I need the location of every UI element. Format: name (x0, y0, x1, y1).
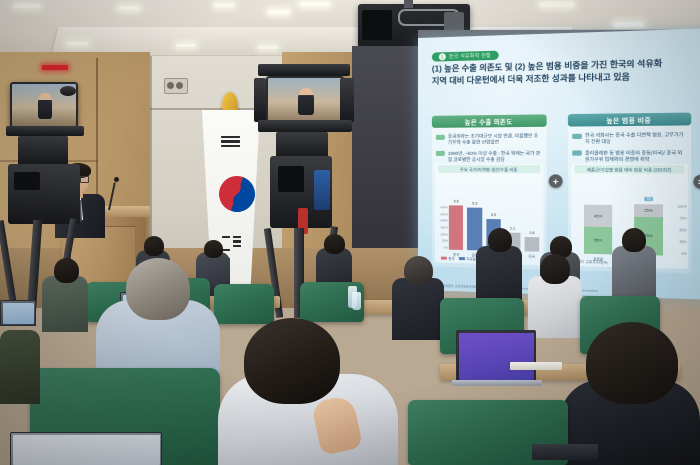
segment-value-label: 55% (594, 238, 602, 242)
y-tick: 25% (672, 240, 687, 245)
bar: 5.3 일본 (467, 208, 482, 251)
laptop-base (452, 380, 542, 386)
viewfinder-subject-speaker (38, 93, 52, 119)
segment-value-label: 25% (644, 209, 652, 213)
laptop (0, 300, 36, 326)
bar-segment-highvalue: 25% (634, 204, 663, 217)
projector-lens (362, 10, 392, 40)
audience-head (488, 228, 512, 252)
bullet-marker-icon (572, 151, 582, 156)
ceiling-light (66, 42, 88, 45)
bar: 5.6 한국 (449, 205, 464, 250)
legend-item: 한국 (441, 256, 455, 261)
trigram-geon-icon (221, 136, 240, 147)
ceiling-light (300, 2, 330, 6)
audience-member (0, 330, 40, 404)
y-tick: 100% (672, 205, 687, 209)
trigram-gon-icon (233, 236, 241, 247)
audience-member (42, 276, 88, 332)
segment-value-label: 45% (594, 214, 602, 218)
connector-plus-icon: + (549, 174, 563, 188)
panel-header: 높은 범용 비중 (568, 113, 691, 127)
audience-head (586, 322, 678, 404)
camera-eyepiece (60, 86, 76, 96)
panel-header: 높은 수출 의존도 (432, 114, 547, 127)
y-tick: 150% (436, 225, 448, 229)
bar: 1.6 미국 (524, 237, 539, 252)
audience-head (54, 258, 79, 283)
camera-side-bracket (254, 78, 266, 122)
y-tick: 75% (672, 216, 687, 220)
water-bottle (352, 292, 361, 310)
bar-segment-highvalue: 45% (584, 205, 612, 227)
panel-bullet: 폴리올레핀 등 범용 비중의 중동(미국)/ 중국 외 원가우위 업체와의 경쟁… (572, 150, 686, 164)
bullet-text: 중국의라는 초기대규모 시장 만큼, 미흡했던 초기무역 수출 물량 산업발전 (448, 133, 543, 147)
camera-side-bracket (340, 78, 354, 122)
legend-item: 고부가가치(%) (578, 259, 608, 265)
ceiling-light (176, 44, 196, 47)
audience-head (324, 234, 345, 254)
y-tick: 0% (436, 245, 448, 249)
bar-value-label: 5.6 (454, 199, 459, 203)
bar-value-label: 1.6 (529, 231, 534, 235)
ceiling-light (268, 10, 290, 14)
audience-head (126, 258, 190, 320)
y-tick: 250% (436, 212, 448, 216)
audience-head (204, 240, 223, 258)
camera-rail (258, 120, 352, 132)
viewfinder-subject-speaker (298, 88, 314, 115)
camera-viewfinder-monitor (266, 76, 344, 124)
laptop-screen (3, 303, 34, 324)
camera-rail (6, 126, 84, 136)
bullet-marker-icon (572, 133, 582, 138)
ceiling-light (258, 46, 278, 49)
y-tick: 100% (436, 232, 448, 236)
ceiling-light (214, 3, 234, 7)
panel-bullet: 한국 석화사는 중국 수출 다변책 범용, 고부가가치 전환 대응 (572, 132, 686, 146)
y-tick: 300% (436, 205, 448, 209)
microphone-head-icon (114, 177, 119, 182)
audience-head (404, 256, 433, 285)
audience-head (244, 318, 340, 404)
ceiling-light (118, 6, 140, 10)
notebook (510, 362, 562, 370)
laptop-screen (13, 435, 160, 465)
legend-label: 한국 (448, 257, 454, 261)
laptop (10, 432, 162, 465)
wall-speaker-icon (164, 78, 188, 94)
projector-mount (404, 0, 413, 8)
bar-segment-commodity: 55% (584, 227, 612, 255)
slide-section-badge: 1한국 석유화학 현황 (432, 43, 498, 63)
camera-cable-bundle (314, 170, 330, 210)
laptop-screen (459, 333, 534, 380)
y-tick: 0% (672, 251, 687, 256)
chart-title: 주요 국가/지역별 생산/수출 비중 (438, 165, 540, 173)
screenshot-root: 1한국 석유화학 현황 (1) 높은 수출 의존도 및 (2) 높은 범용 비중… (0, 0, 700, 465)
camera-body (276, 132, 328, 158)
y-tick: 50% (436, 239, 448, 243)
tally-light (42, 65, 68, 70)
legend-swatch (459, 256, 465, 260)
camera-body (18, 136, 68, 166)
audience-head (622, 228, 646, 252)
camera-control-panel (278, 166, 304, 192)
notebook (532, 444, 598, 460)
laptop (456, 330, 536, 382)
bullet-text: 1990년, ~50% 이상 수출 : 한국 외에는 국가 관점 글로벌한 공시… (448, 150, 543, 163)
stacked-bar: 45% 55% 글로벌 (584, 205, 612, 255)
audience-member (392, 278, 444, 340)
chart-title: 제품군/기업별 범용 대비 범용 비중 (2023년) (574, 165, 684, 173)
legend-swatch (441, 256, 447, 260)
badge-number: 1 (439, 53, 446, 60)
panel-bullet: 1990년, ~50% 이상 수출 : 한국 외에는 국가 관점 글로벌한 공시… (436, 150, 543, 163)
bullet-text: 폴리올레핀 등 범용 비중의 중동(미국)/ 중국 외 원가우위 업체와의 경쟁… (585, 150, 687, 164)
chair (214, 284, 274, 324)
legend-label: 고부가가치(%) (586, 260, 608, 265)
ceiling-light (614, 22, 644, 27)
audience-member (612, 246, 656, 302)
camera-control-panel (14, 172, 40, 190)
bar-cap-label: 75 (644, 197, 653, 201)
ceiling-light (540, 2, 574, 7)
bar-value-label: 3.9 (491, 213, 496, 217)
camera-top-handle (258, 64, 350, 76)
chart-y-axis: 300% 250% 200% 150% 100% 50% 0% (436, 205, 448, 249)
panel-bullet: 중국의라는 초기대규모 시장 만큼, 미흡했던 초기무역 수출 물량 산업발전 (436, 133, 543, 147)
bar-value-label: 5.3 (472, 202, 477, 206)
bar-value-label: 2.1 (510, 227, 515, 231)
bullet-marker-icon (436, 151, 445, 156)
ceiling-light (14, 4, 40, 8)
y-tick: 200% (436, 219, 448, 223)
y-tick: 50% (672, 228, 687, 233)
bullet-text: 한국 석화사는 중국 수출 다변책 범용, 고부가가치 전환 대응 (585, 132, 687, 146)
audience-member (476, 246, 522, 304)
audience-member (528, 276, 582, 338)
badge-label: 한국 석유화학 현황 (449, 53, 491, 60)
audience-head (540, 254, 570, 284)
bullet-marker-icon (436, 134, 445, 139)
viewfinder-feed (268, 78, 342, 122)
audience-head (144, 236, 164, 256)
chart-y-axis: 100% 75% 50% 25% 0% (672, 205, 687, 257)
